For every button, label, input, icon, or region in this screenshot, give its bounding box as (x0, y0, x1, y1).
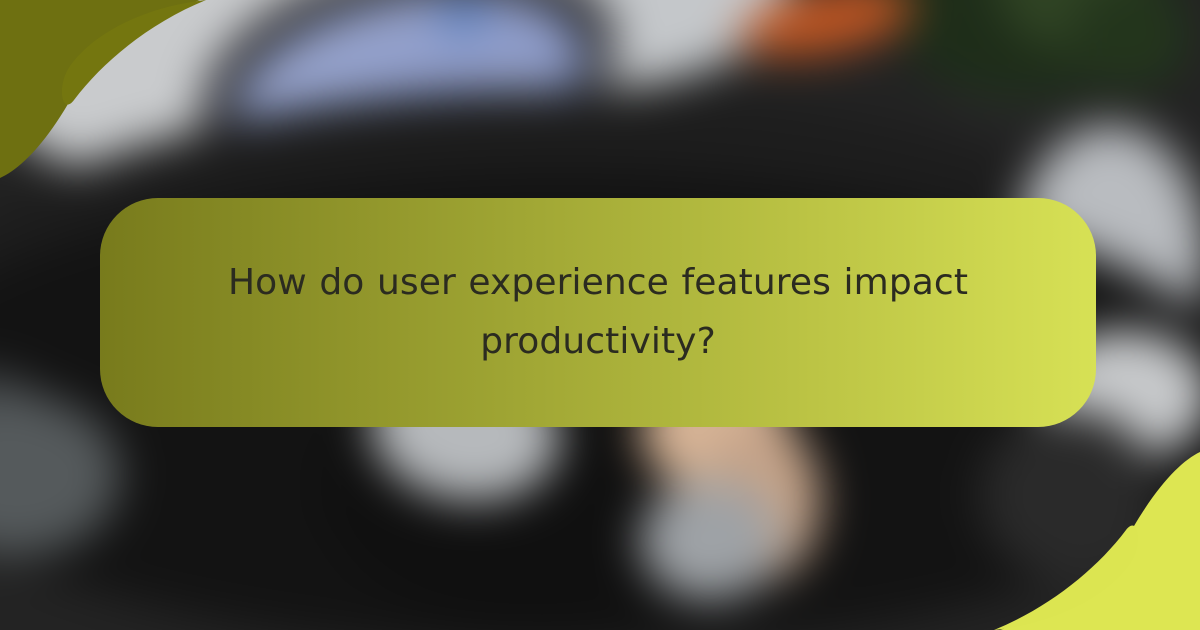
quote-text: How do user experience features impact p… (210, 254, 986, 371)
background-notebook (736, 0, 920, 68)
background-object-bottom-right (980, 410, 1160, 580)
quote-card-graphic: How do user experience features impact p… (0, 0, 1200, 630)
quote-card: How do user experience features impact p… (100, 198, 1096, 427)
background-sleeve (640, 480, 780, 600)
